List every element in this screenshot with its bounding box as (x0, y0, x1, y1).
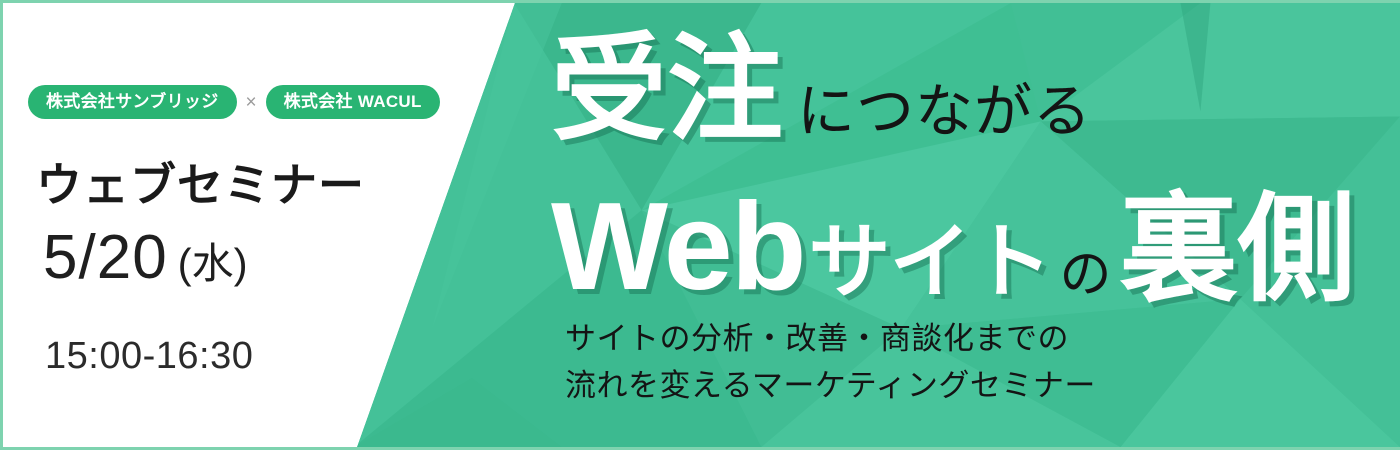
headline-particle-no: の (1060, 249, 1112, 301)
event-date-value: 5/20 (43, 227, 168, 289)
subtitle-block: サイトの分析・改善・商談化までの 流れを変えるマーケティングセミナー (565, 315, 1096, 409)
left-info-block: 株式会社サンブリッジ × 株式会社 WACUL ウェブセミナー 5/20 (水)… (3, 3, 515, 450)
headline-emphasis-uragawa: 裏側 (1120, 191, 1356, 309)
event-day-of-week: (水) (178, 243, 248, 285)
subtitle-line-1: サイトの分析・改善・商談化までの (565, 315, 1096, 362)
subtitle-line-2: 流れを変えるマーケティングセミナー (565, 362, 1096, 409)
headline-emphasis-juchu: 受注 (551, 31, 783, 147)
event-date: 5/20 (水) (43, 227, 248, 289)
event-type-title: ウェブセミナー (36, 149, 365, 215)
webinar-banner: 株式会社サンブリッジ × 株式会社 WACUL ウェブセミナー 5/20 (水)… (0, 0, 1400, 450)
headline-line-1: 受注 につながる (551, 31, 1092, 147)
event-time: 15:00-16:30 (45, 335, 253, 378)
badge-separator-icon: × (246, 93, 257, 112)
headline-suffix-nitsunagaru: につながる (797, 83, 1092, 141)
headline-line-2: Web サイト の 裏側 (551, 185, 1356, 309)
badge-company-a: 株式会社サンブリッジ (28, 85, 237, 119)
badge-company-b: 株式会社 WACUL (266, 85, 440, 119)
partner-badges: 株式会社サンブリッジ × 株式会社 WACUL (28, 85, 440, 119)
headline-site: サイト (809, 222, 1052, 304)
headline-web: Web (551, 185, 805, 309)
